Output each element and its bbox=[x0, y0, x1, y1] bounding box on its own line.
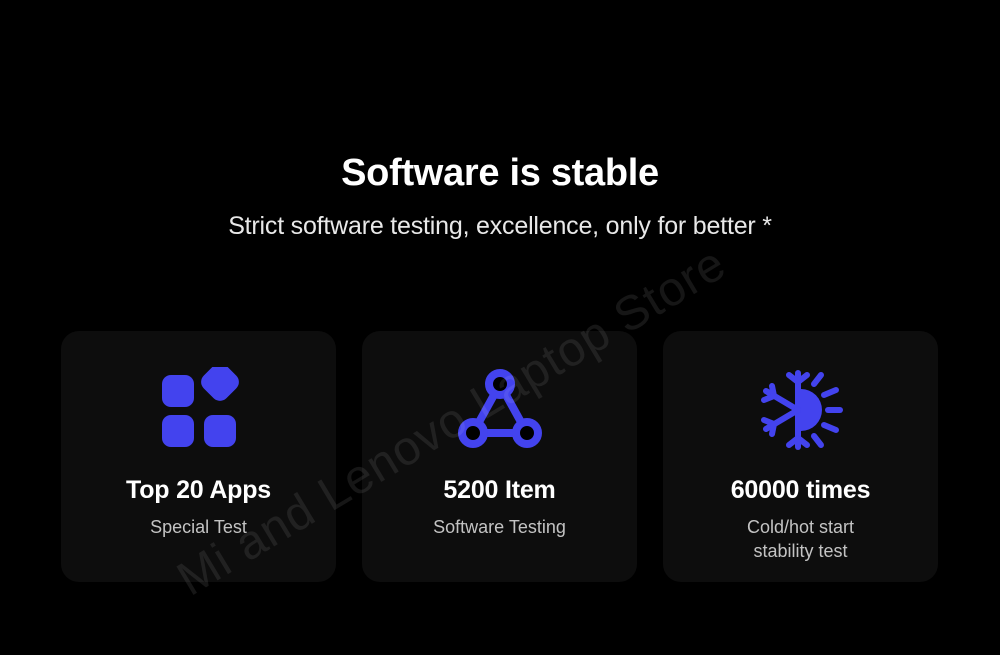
stat-headline: Top 20 Apps bbox=[126, 475, 271, 505]
stat-sublabel: Special Test bbox=[150, 515, 247, 539]
stat-sublabel: Software Testing bbox=[433, 515, 566, 539]
promo-page: Mi and Lenovo Laptop Store Software is s… bbox=[0, 0, 1000, 655]
stat-card-cold-hot-start[interactable]: 60000 times Cold/hot start stability tes… bbox=[663, 331, 938, 582]
stat-card-row: Top 20 Apps Special Test 5200 Item Softw… bbox=[61, 331, 938, 582]
hero-section: Software is stable Strict software testi… bbox=[0, 150, 1000, 242]
node-network-triangle-icon bbox=[457, 367, 543, 453]
stat-headline: 5200 Item bbox=[443, 475, 555, 505]
app-grid-icon bbox=[156, 367, 242, 453]
stat-card-top-apps[interactable]: Top 20 Apps Special Test bbox=[61, 331, 336, 582]
stat-sublabel: Cold/hot start stability test bbox=[747, 515, 854, 563]
stat-headline: 60000 times bbox=[731, 475, 871, 505]
page-title: Software is stable bbox=[0, 150, 1000, 196]
stat-card-software-items[interactable]: 5200 Item Software Testing bbox=[362, 331, 637, 582]
page-subtitle: Strict software testing, excellence, onl… bbox=[0, 210, 1000, 242]
snowflake-sun-icon bbox=[758, 367, 844, 453]
